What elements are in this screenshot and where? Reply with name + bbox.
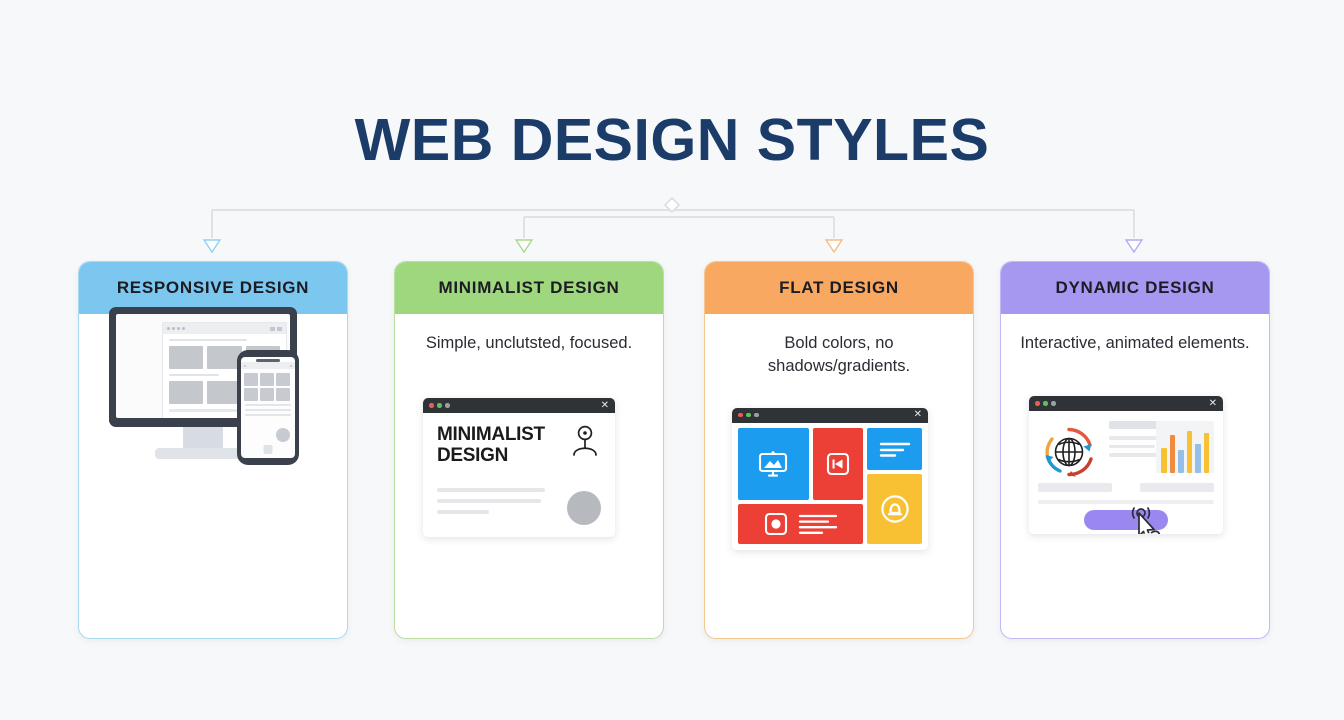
card-minimalist-design[interactable]: MINIMALIST DESIGN Simple, unclutsted, fo… — [394, 261, 664, 639]
arrowhead-dynamic — [1126, 240, 1142, 252]
browser-titlebar: ✕ — [423, 398, 615, 413]
window-dots-icon — [429, 403, 450, 408]
tile-image[interactable] — [738, 428, 809, 500]
avatar-placeholder — [567, 491, 601, 525]
window-dots-icon — [738, 413, 759, 418]
browser-window-flat: ✕ — [732, 408, 928, 550]
close-icon[interactable]: ✕ — [1209, 399, 1217, 409]
arrowhead-responsive — [204, 240, 220, 252]
browser-window-minimalist: ✕ MINIMALIST DESIGN — [423, 398, 615, 537]
browser-content — [1029, 411, 1223, 534]
phone-browser-bar — [241, 362, 295, 369]
placeholder-line — [245, 404, 291, 406]
tile-notification[interactable] — [867, 474, 922, 544]
close-icon[interactable]: ✕ — [601, 401, 609, 411]
bar-chart-widget — [1156, 421, 1214, 473]
globe-refresh-icon — [1038, 421, 1100, 483]
connector-center-diamond — [665, 198, 679, 212]
tile-camera-and-text[interactable] — [738, 504, 863, 544]
placeholder-line — [245, 414, 291, 416]
card-description-flat: Bold colors, no shadows/gradients. — [705, 314, 973, 378]
window-controls-icon — [270, 327, 282, 331]
browser-titlebar: ✕ — [732, 408, 928, 423]
tile-text-top[interactable] — [867, 428, 922, 470]
placeholder-line — [245, 409, 291, 411]
tile-media[interactable] — [813, 428, 863, 500]
camera-icon — [764, 512, 788, 536]
text-lines-icon — [798, 513, 838, 535]
placeholder-line — [169, 339, 247, 341]
card-flat-design[interactable]: FLAT DESIGN Bold colors, no shadows/grad… — [704, 261, 974, 639]
placeholder-text-lines — [437, 488, 545, 521]
media-skip-icon — [826, 452, 850, 476]
placeholder-block — [1038, 483, 1112, 492]
card-description-minimalist: Simple, unclutsted, focused. — [395, 314, 663, 368]
phone-speaker-icon — [256, 359, 280, 362]
illustration-responsive — [79, 262, 348, 638]
illustration-minimalist: ✕ MINIMALIST DESIGN — [395, 368, 663, 638]
card-header-flat: FLAT DESIGN — [705, 262, 973, 314]
card-description-dynamic: Interactive, animated elements. — [1001, 314, 1269, 368]
click-cursor-icon — [1125, 500, 1171, 534]
card-dynamic-design[interactable]: DYNAMIC DESIGN Interactive, animated ele… — [1000, 261, 1270, 639]
cards-row: RESPONSIVE DESIGN Adapts to screen sizes… — [0, 261, 1344, 639]
page-title: WEB DESIGN STYLES — [0, 106, 1344, 174]
phone-grid — [241, 369, 295, 401]
phone-home-button-icon — [264, 445, 273, 454]
bell-circle-icon — [880, 494, 910, 524]
illustration-dynamic: ✕ — [1001, 368, 1269, 638]
image-screen-icon — [758, 451, 788, 477]
text-lines-icon — [878, 440, 912, 458]
phone-screen — [241, 357, 295, 458]
arrowhead-minimalist — [516, 240, 532, 252]
mobile-phone-icon — [237, 350, 299, 465]
browser-titlebar — [163, 323, 286, 334]
placeholder-block — [1140, 483, 1214, 492]
card-responsive-design[interactable]: RESPONSIVE DESIGN Adapts to screen sizes… — [78, 261, 348, 639]
infographic-canvas: WEB DESIGN STYLES RESPONSIVE DESIGN Adap… — [0, 0, 1344, 720]
card-header-minimalist: MINIMALIST DESIGN — [395, 262, 663, 314]
browser-titlebar: ✕ — [1029, 396, 1223, 411]
window-dots-icon — [167, 327, 185, 330]
phone-avatar — [276, 428, 290, 442]
window-dots-icon — [1035, 401, 1056, 406]
card-header-dynamic: DYNAMIC DESIGN — [1001, 262, 1269, 314]
person-icon — [571, 425, 599, 457]
browser-window-dynamic: ✕ — [1029, 396, 1223, 534]
placeholder-text-block — [1109, 421, 1161, 462]
close-icon[interactable]: ✕ — [914, 410, 922, 420]
chart-bars — [1161, 427, 1209, 473]
placeholder-line — [169, 374, 219, 376]
flat-tile-grid — [732, 423, 928, 550]
browser-content: MINIMALIST DESIGN — [423, 413, 615, 537]
illustration-flat: ✕ — [705, 378, 973, 638]
arrowhead-flat — [826, 240, 842, 252]
